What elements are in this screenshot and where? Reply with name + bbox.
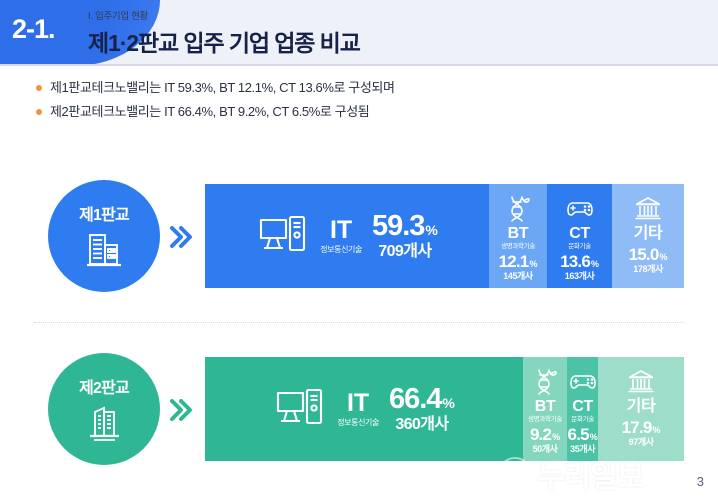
segment-name: CT [569, 226, 590, 242]
percent-sign: % [660, 252, 668, 262]
percent-sign: % [552, 432, 560, 442]
bank-building-icon [633, 193, 663, 223]
bullet-text: 제1판교테크노밸리는 IT 59.3%, BT 12.1%, CT 13.6%로… [50, 79, 395, 97]
game-controller-icon [565, 193, 595, 223]
segment-subtitle: 생명과학기술 [501, 244, 535, 251]
segment-count: 50개사 [533, 445, 558, 454]
percent-sign: % [529, 259, 537, 269]
stacked-bar-pangyo-1: IT 정보통신기술 59.3 % 709개사 [205, 184, 684, 288]
double-chevron-right-icon [168, 224, 194, 250]
segment-count: 163개사 [565, 272, 595, 281]
segment-count: 178개사 [633, 265, 663, 274]
header-underline [0, 64, 718, 66]
percent-sign: % [442, 396, 454, 410]
segment-subtitle: 생명과학기술 [528, 417, 562, 424]
segment-count: 97개사 [629, 438, 654, 447]
segment-count: 709개사 [378, 244, 431, 260]
segment-percent: 15.0 [629, 246, 659, 263]
segment-percent: 66.4 [389, 385, 441, 414]
buildings-icon [82, 400, 126, 444]
segment-count: 145개사 [503, 272, 533, 281]
bar-segment-it[interactable]: IT 정보통신기술 59.3 % 709개사 [205, 184, 489, 288]
segment-percent: 6.5 [568, 426, 589, 443]
row-badge-label: 제1판교 [79, 201, 129, 225]
bottom-bar [0, 493, 718, 497]
percent-sign: % [653, 425, 661, 435]
chart-row-pangyo-1: 제1판교 [0, 172, 718, 302]
segment-subtitle: 문화기술 [568, 244, 591, 251]
desktop-computer-icon [256, 210, 310, 262]
segment-name: 기타 [634, 226, 663, 242]
page-number: 3 [697, 474, 704, 489]
slide-number: 2-1. [12, 14, 55, 45]
segment-name: CT [572, 399, 593, 415]
row-divider [34, 322, 684, 323]
row-badge-circle: 제1판교 [48, 180, 160, 292]
row-badge-label: 제2판교 [79, 374, 129, 398]
game-controller-icon [568, 366, 598, 396]
list-item: 제2판교테크노밸리는 IT 66.4%, BT 9.2%, CT 6.5%로 구… [36, 103, 656, 121]
list-item: 제1판교테크노밸리는 IT 59.3%, BT 12.1%, CT 13.6%로… [36, 79, 656, 97]
segment-subtitle: 문화기술 [571, 417, 594, 424]
bullet-list: 제1판교테크노밸리는 IT 59.3%, BT 12.1%, CT 13.6%로… [36, 79, 656, 126]
percent-sign: % [591, 259, 599, 269]
percent-sign: % [590, 432, 598, 442]
header-eyebrow: I. 입주기업 현황 [88, 8, 148, 22]
double-chevron-right-icon [168, 397, 194, 423]
segment-name: IT [330, 218, 352, 243]
stacked-bar-pangyo-2: IT 정보통신기술 66.4 % 360개사 [205, 357, 684, 461]
bullet-dot-icon [36, 109, 42, 115]
bullet-text: 제2판교테크노밸리는 IT 66.4%, BT 9.2%, CT 6.5%로 구… [50, 103, 369, 121]
row-badge-circle: 제2판교 [48, 353, 160, 465]
segment-name: IT [347, 391, 369, 416]
dna-leaf-icon [530, 366, 560, 396]
segment-name: BT [508, 226, 529, 242]
segment-percent: 12.1 [499, 253, 529, 270]
segment-count: 360개사 [395, 417, 448, 433]
chart-row-pangyo-2: 제2판교 [0, 345, 718, 475]
buildings-icon [82, 227, 126, 271]
segment-percent: 9.2 [530, 426, 551, 443]
bullet-dot-icon [36, 85, 42, 91]
bar-segment-bt[interactable]: BT 생명과학기술 12.1 % 145개사 [489, 184, 547, 288]
bar-segment-ct[interactable]: CT 문화기술 13.6 % 163개사 [547, 184, 612, 288]
bar-segment-it[interactable]: IT 정보통신기술 66.4 % 360개사 [205, 357, 523, 461]
desktop-computer-icon [273, 383, 327, 435]
segment-percent: 59.3 [372, 212, 424, 241]
bar-segment-etc[interactable]: 기타 15.0 % 178개사 [612, 184, 684, 288]
bar-segment-etc[interactable]: 기타 17.9 % 97개사 [598, 357, 684, 461]
bank-building-icon [626, 366, 656, 396]
segment-subtitle: 정보통신기술 [337, 419, 379, 427]
percent-sign: % [425, 223, 437, 237]
segment-count: 35개사 [570, 445, 595, 454]
bar-segment-bt[interactable]: BT 생명과학기술 9.2 % 50개사 [523, 357, 567, 461]
page-title: 제1·2판교 입주 기업 업종 비교 [88, 24, 360, 58]
segment-percent: 17.9 [622, 419, 652, 436]
segment-name: 기타 [627, 399, 656, 415]
segment-percent: 13.6 [560, 253, 590, 270]
slide-header: 2-1. I. 입주기업 현황 제1·2판교 입주 기업 업종 비교 [0, 0, 718, 66]
bar-segment-ct[interactable]: CT 문화기술 6.5 % 35개사 [567, 357, 598, 461]
segment-subtitle: 정보통신기술 [320, 246, 362, 254]
dna-leaf-icon [503, 193, 533, 223]
segment-name: BT [535, 399, 556, 415]
